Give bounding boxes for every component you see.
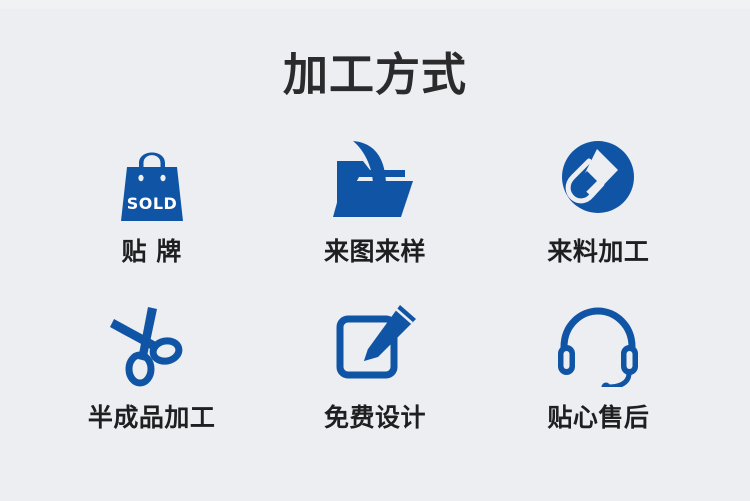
feature-label-free-design: 免费设计 (324, 403, 426, 433)
feature-label-drawing-sample: 来图来样 (324, 237, 426, 267)
feature-item-semi-finished-processing[interactable]: 半成品加工 (40, 299, 263, 465)
sold-badge-text: SOLD (126, 194, 177, 213)
page-title: 加工方式 (0, 44, 750, 106)
feature-item-free-design[interactable]: 免费设计 (263, 299, 486, 465)
circle-blade-icon (558, 133, 638, 225)
shopping-bag-sold-icon: SOLD (112, 133, 192, 225)
feature-label-oem-branding: 贴 牌 (122, 237, 182, 267)
feature-label-after-sales: 贴心售后 (547, 403, 649, 433)
top-edge-band (0, 0, 750, 9)
feature-item-material-processing[interactable]: 来料加工 (487, 133, 710, 299)
headset-icon (554, 299, 642, 391)
feature-item-drawing-sample[interactable]: 来图来样 (263, 133, 486, 299)
scissors-icon (102, 299, 202, 391)
folder-download-icon (329, 133, 421, 225)
feature-grid: SOLD 贴 牌 来图来样 (40, 133, 710, 465)
feature-label-semi-finished-processing: 半成品加工 (88, 403, 216, 433)
pen-square-icon (330, 299, 420, 391)
feature-item-oem-branding[interactable]: SOLD 贴 牌 (40, 133, 263, 299)
feature-label-material-processing: 来料加工 (547, 237, 649, 267)
feature-item-after-sales[interactable]: 贴心售后 (487, 299, 710, 465)
promo-banner: 加工方式 SOLD 贴 牌 (0, 0, 750, 501)
